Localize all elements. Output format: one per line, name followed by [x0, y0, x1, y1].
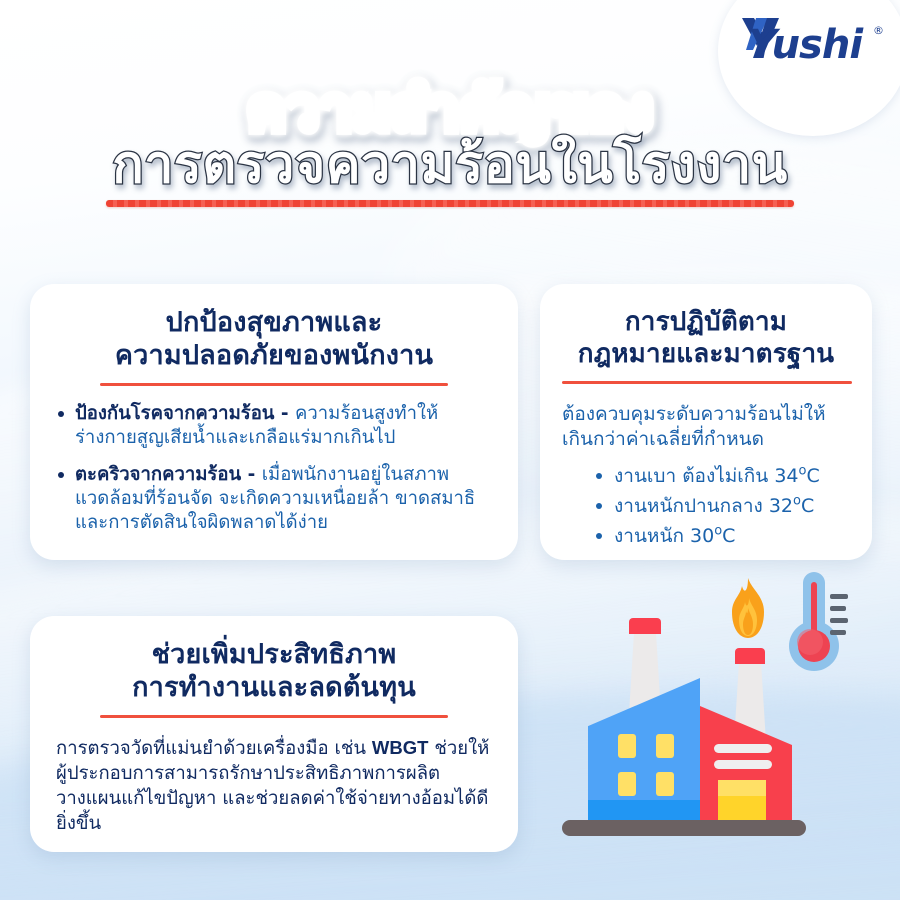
wbgt-term: WBGT: [372, 737, 429, 758]
temperature-limit-list: งานเบา ต้องไม่เกิน 34oC งานหนักปานกลาง 3…: [562, 463, 850, 549]
limit-label: งานหนัก: [614, 525, 684, 547]
card-health-safety: ปกป้องสุขภาพและ ความปลอดภัยของพนักงาน ป้…: [30, 284, 518, 560]
card-efficiency-heading-line-2: การทำงานและลดต้นทุน: [56, 671, 492, 704]
limit-unit: C: [801, 495, 814, 517]
flame-icon: [724, 578, 772, 650]
card-health-heading-line-2: ความปลอดภัยของพนักงาน: [56, 339, 492, 372]
chimney-right-cap-icon: [735, 648, 765, 664]
limit-unit: C: [722, 525, 735, 547]
garage-door-top: [718, 780, 766, 796]
limit-label: งานเบา ต้องไม่เกิน: [614, 465, 768, 487]
card-health-heading-line-1: ปกป้องสุขภาพและ: [56, 306, 492, 339]
window-icon: [618, 772, 636, 796]
brand-name: Yushi: [748, 22, 862, 68]
card-efficiency-cost: ช่วยเพิ่มประสิทธิภาพ การทำงานและลดต้นทุน…: [30, 616, 518, 852]
page-title: ความสำคัญของ การตรวจความร้อนในโรงงาน: [0, 78, 900, 207]
limit-label: งานหนักปานกลาง: [614, 495, 763, 517]
list-item: งานเบา ต้องไม่เกิน 34oC: [596, 463, 850, 489]
limit-unit: C: [807, 465, 820, 487]
list-item: ป้องกันโรคจากความร้อน - ความร้อนสูงทำให้…: [56, 402, 492, 450]
card-health-heading: ปกป้องสุขภาพและ ความปลอดภัยของพนักงาน: [56, 306, 492, 372]
factory-heat-illustration: [548, 568, 878, 868]
limit-value: 30: [690, 525, 714, 547]
building-stripe: [714, 744, 772, 753]
card-legal-intro: ต้องควบคุมระดับความร้อนไม่ให้เกินกว่าค่า…: [562, 402, 850, 452]
infographic-page: Yushi ® ความสำคัญของ การตรวจความร้อนในโร…: [0, 0, 900, 900]
bullet-lead: ป้องกันโรคจากความร้อน: [75, 403, 274, 424]
card-legal-heading: การปฏิบัติตาม กฎหมายและมาตรฐาน: [562, 306, 850, 370]
window-icon: [656, 772, 674, 796]
limit-value: 32: [769, 495, 793, 517]
card-efficiency-divider: [100, 715, 448, 718]
title-line-1: ความสำคัญของ: [0, 78, 900, 140]
window-icon: [656, 734, 674, 758]
chimney-left-cap-icon: [629, 618, 661, 634]
title-underline: [106, 200, 794, 207]
card-efficiency-heading: ช่วยเพิ่มประสิทธิภาพ การทำงานและลดต้นทุน: [56, 638, 492, 704]
bullet-lead: ตะคริวจากความร้อน: [75, 464, 241, 485]
card-efficiency-body: การตรวจวัดที่แม่นยำด้วยเครื่องมือ เช่น W…: [56, 735, 492, 836]
card-legal-heading-line-2: กฎหมายและมาตรฐาน: [562, 338, 850, 370]
limit-value: 34: [774, 465, 798, 487]
card-efficiency-heading-line-1: ช่วยเพิ่มประสิทธิภาพ: [56, 638, 492, 671]
list-item: งานหนัก 30oC: [596, 523, 850, 549]
list-item: งานหนักปานกลาง 32oC: [596, 493, 850, 519]
ground-bar: [562, 820, 806, 836]
title-line-2: การตรวจความร้อนในโรงงาน: [0, 136, 900, 194]
card-health-divider: [100, 383, 448, 386]
list-item: ตะคริวจากความร้อน - เมื่อพนักงานอยู่ในสภ…: [56, 463, 492, 535]
thermometer-icon: [786, 572, 842, 678]
card-legal-divider: [562, 381, 852, 384]
card-health-bullet-list: ป้องกันโรคจากความร้อน - ความร้อนสูงทำให้…: [56, 402, 492, 535]
window-icon: [618, 734, 636, 758]
bullet-separator: -: [274, 403, 295, 424]
building-stripe: [714, 760, 772, 769]
card-legal-compliance: การปฏิบัติตาม กฎหมายและมาตรฐาน ต้องควบคุ…: [540, 284, 872, 560]
registered-mark: ®: [873, 24, 884, 37]
thermometer-tick: [830, 606, 846, 611]
degree-symbol: o: [714, 524, 722, 539]
factory-building-blue-base: [588, 800, 700, 822]
brand-logo: Yushi ®: [732, 18, 882, 80]
degree-symbol: o: [799, 464, 807, 479]
body-part-1: การตรวจวัดที่แม่นยำด้วยเครื่องมือ เช่น: [56, 738, 372, 759]
thermometer-tick: [830, 618, 848, 623]
bullet-separator: -: [241, 464, 262, 485]
thermometer-tick: [830, 594, 848, 599]
card-legal-heading-line-1: การปฏิบัติตาม: [562, 306, 850, 338]
degree-symbol: o: [793, 494, 801, 509]
thermometer-tick: [830, 630, 846, 635]
